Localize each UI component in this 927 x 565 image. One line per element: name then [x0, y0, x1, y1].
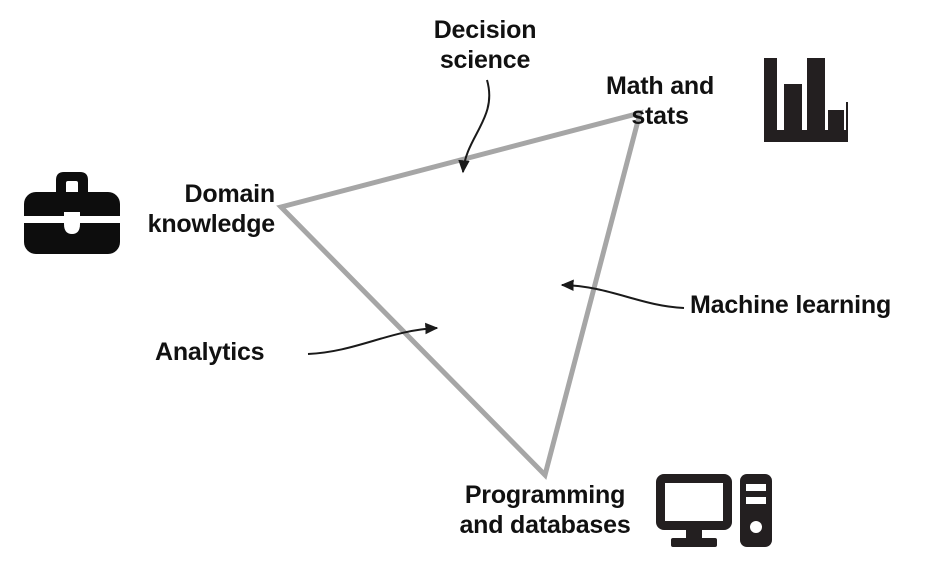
diagram-canvas: Decision science Math and stats Domain k… [0, 0, 927, 565]
label-analytics: Analytics [155, 338, 300, 368]
label-decision-science: Decision science [400, 16, 570, 75]
monitor-screen [665, 483, 723, 521]
skills-triangle [281, 113, 640, 475]
tower-slot-2 [746, 497, 766, 504]
label-math-and-stats: Math and stats [580, 72, 740, 131]
bar-chart-icon [762, 56, 848, 144]
analytics-arrow [308, 328, 437, 354]
tower-power-button [750, 521, 762, 533]
tower-slot-1 [746, 484, 766, 491]
monitor-neck [686, 528, 702, 539]
bar-chart-bar-2 [807, 58, 825, 130]
label-machine-learning: Machine learning [690, 291, 920, 321]
bar-chart-bar-1 [784, 84, 802, 130]
label-domain-knowledge: Domain knowledge [125, 180, 275, 239]
label-programming-and-databases: Programming and databases [445, 481, 645, 540]
bar-chart-bar-4 [846, 102, 848, 130]
bar-chart-bar-3 [828, 110, 844, 130]
briefcase-icon [20, 166, 124, 258]
briefcase-clasp [64, 212, 80, 234]
monitor-base [671, 538, 717, 547]
desktop-computer-icon [654, 472, 774, 550]
machine-learning-arrow [562, 285, 684, 308]
